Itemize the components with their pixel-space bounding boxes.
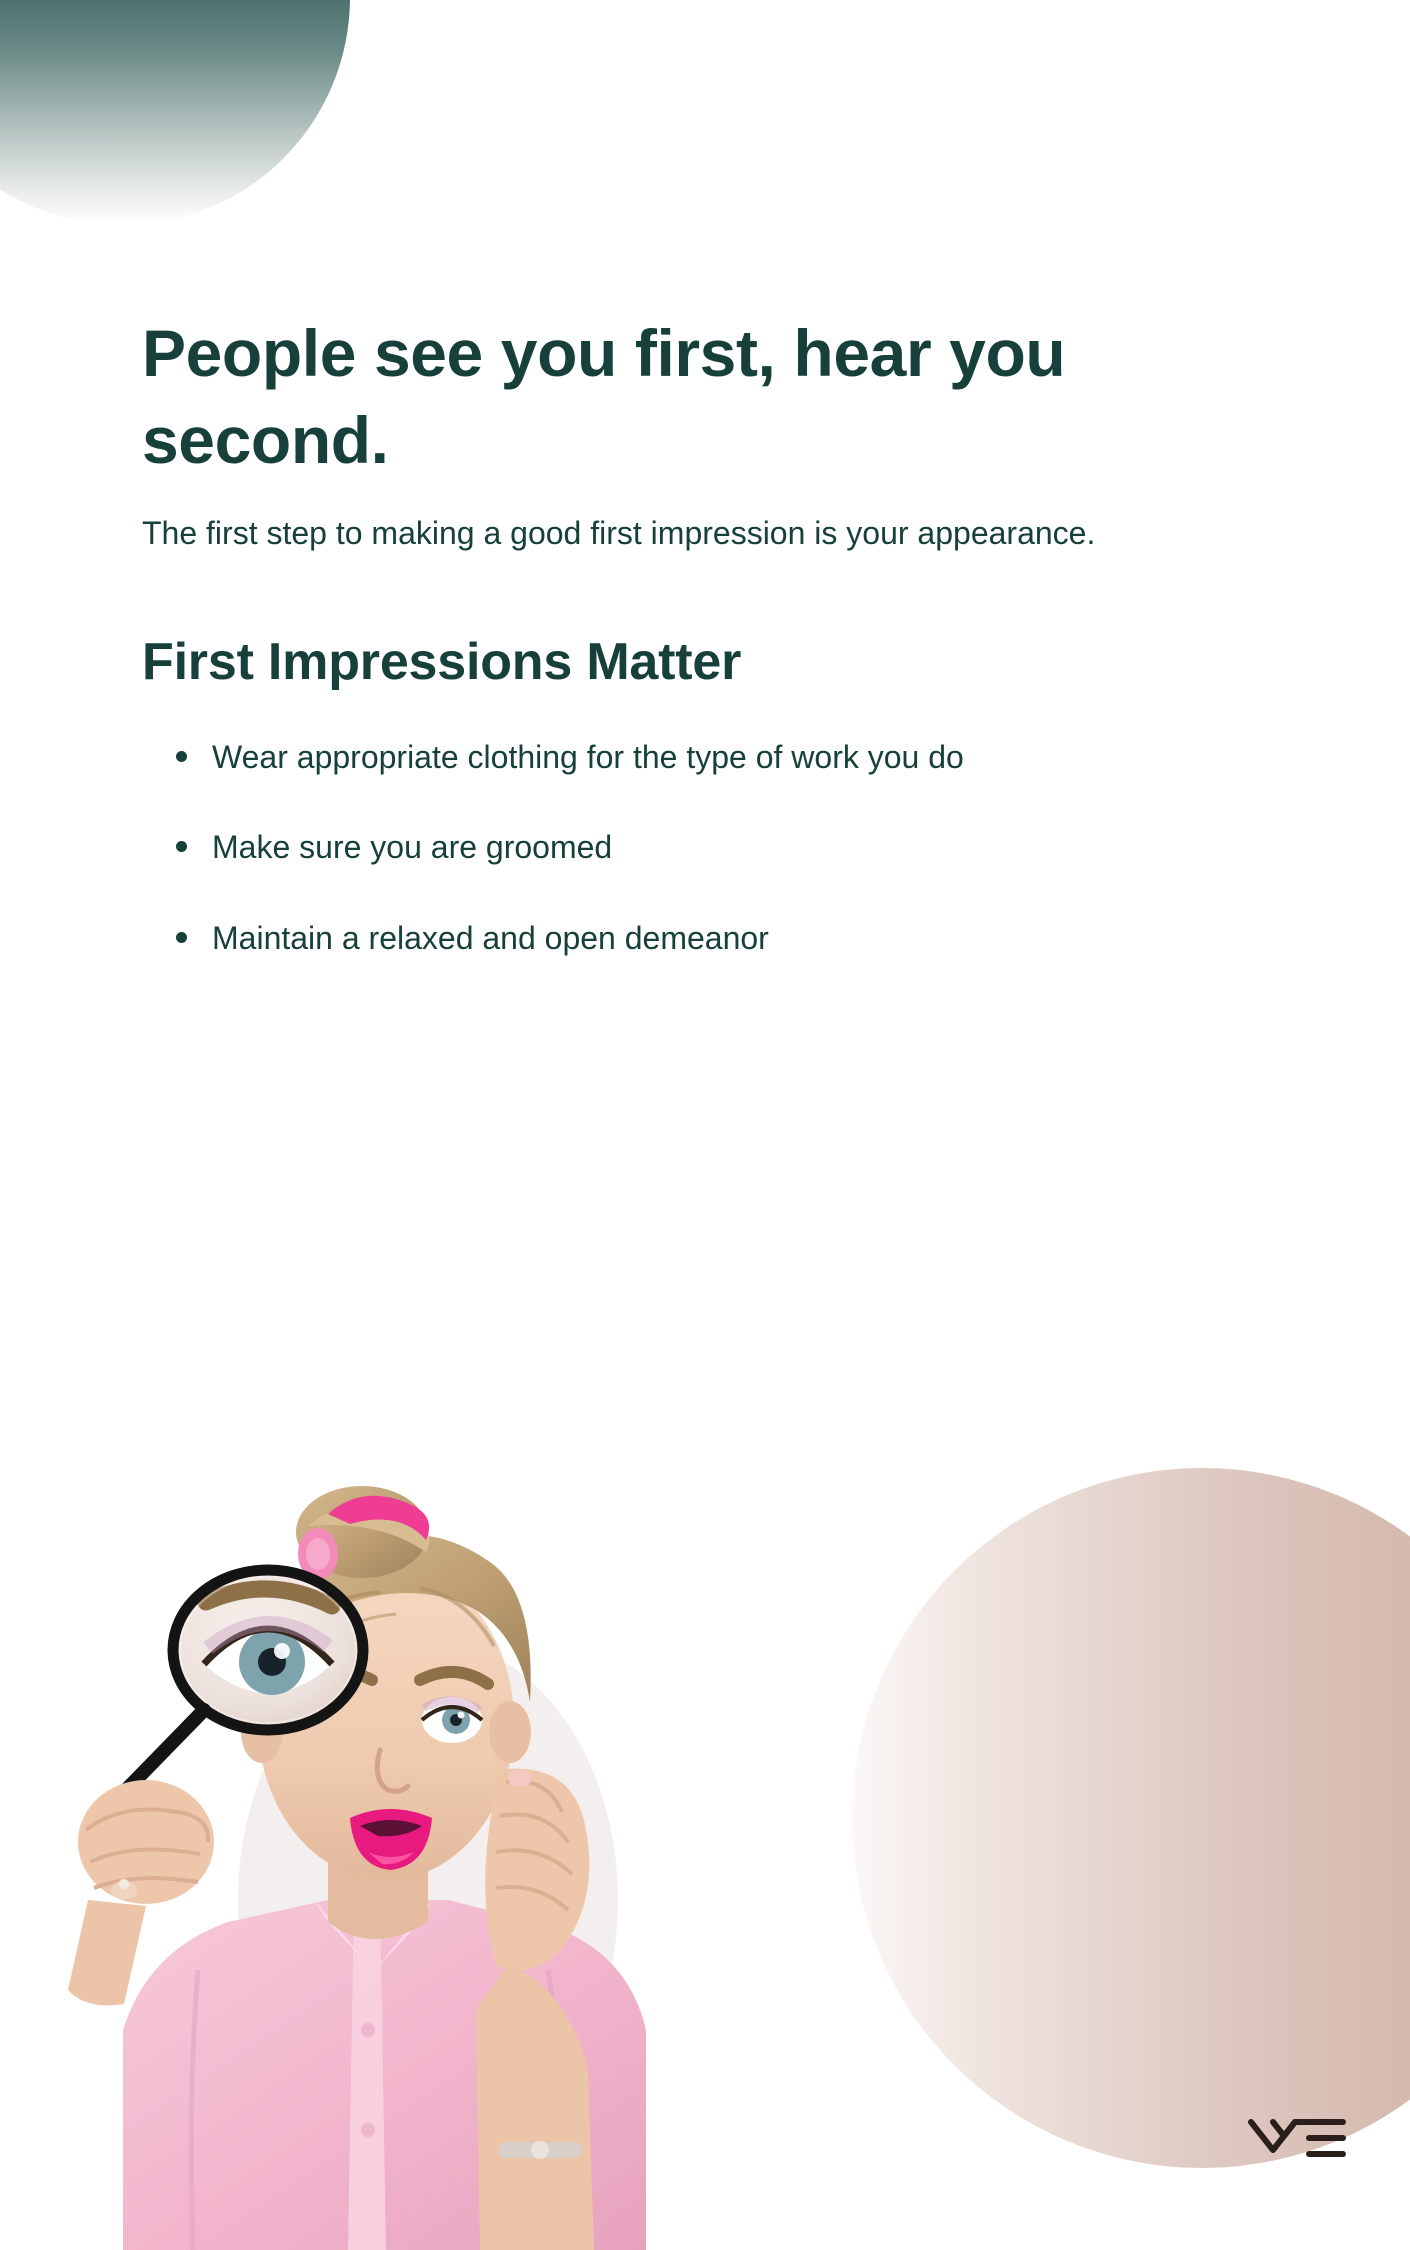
section-heading: First Impressions Matter bbox=[142, 630, 1252, 695]
list-item: Wear appropriate clothing for the type o… bbox=[176, 733, 1252, 782]
ve-monogram-logo bbox=[1243, 2098, 1355, 2170]
bullet-dot-icon bbox=[176, 841, 187, 852]
bullet-dot-icon bbox=[176, 751, 187, 762]
bullet-list: Wear appropriate clothing for the type o… bbox=[142, 733, 1252, 963]
bottom-right-gradient-circle bbox=[852, 1468, 1410, 2168]
list-item: Maintain a relaxed and open demeanor bbox=[176, 914, 1252, 963]
page-subtitle: The first step to making a good first im… bbox=[142, 510, 1232, 557]
list-item-label: Wear appropriate clothing for the type o… bbox=[212, 739, 964, 775]
slide-canvas: People see you first, hear you second. T… bbox=[0, 0, 1410, 2250]
content-column: People see you first, hear you second. T… bbox=[142, 310, 1252, 962]
top-left-gradient-circle bbox=[0, 0, 350, 225]
bullet-dot-icon bbox=[176, 932, 187, 943]
list-item-label: Maintain a relaxed and open demeanor bbox=[212, 920, 769, 956]
surprised-woman-with-magnifying-glass-photo bbox=[28, 1470, 678, 2250]
list-item-label: Make sure you are groomed bbox=[212, 829, 612, 865]
page-title: People see you first, hear you second. bbox=[142, 310, 1252, 484]
list-item: Make sure you are groomed bbox=[176, 823, 1252, 872]
